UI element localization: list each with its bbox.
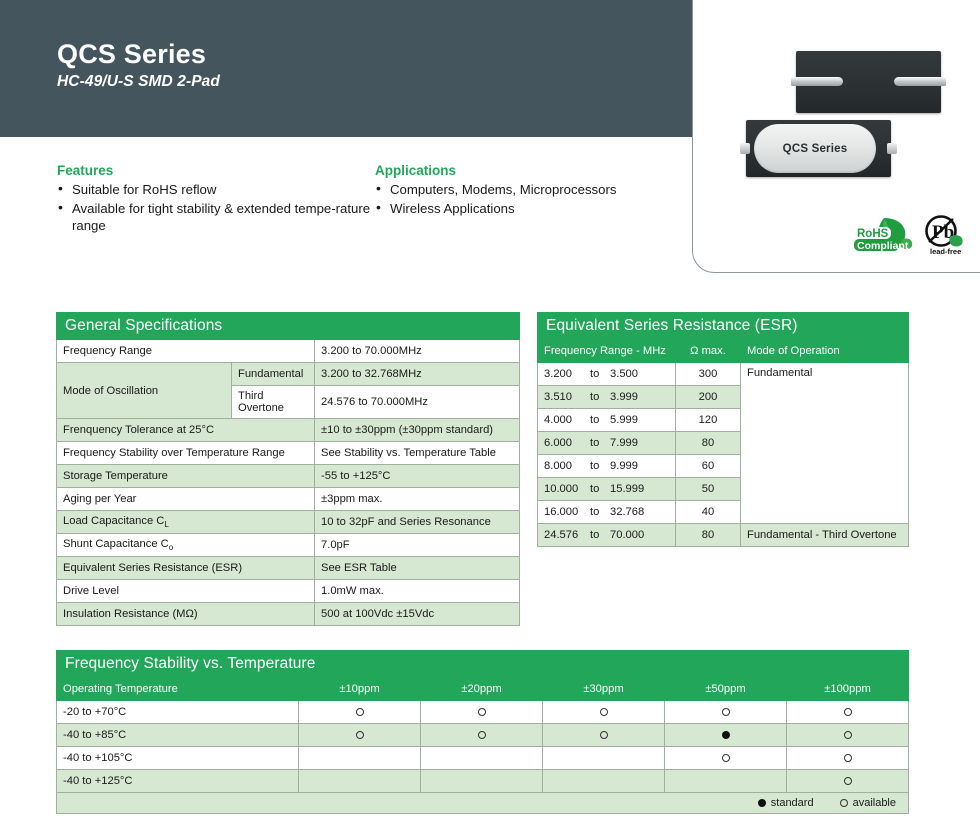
stability-mark-available	[299, 724, 421, 747]
esr-mode-of-operation: Fundamental	[741, 363, 909, 524]
esr-ohms-max: 40	[676, 501, 741, 524]
open-dot-icon	[840, 799, 848, 807]
stability-temperature-range: -40 to +105°C	[57, 747, 299, 770]
pb-lead-free-icon: Pb lead-free	[921, 214, 965, 256]
applications-heading: Applications	[375, 163, 675, 178]
table-row: 3.200to3.500300Fundamental	[538, 363, 909, 386]
lead-free-caption: lead-free	[930, 247, 961, 256]
package-label-oval: QCS Series	[754, 124, 876, 173]
esr-col-head-mode: Mode of Operation	[741, 340, 909, 363]
solder-pad-left-icon	[791, 77, 843, 86]
stability-mark-available	[787, 701, 909, 724]
legend-available: available	[840, 797, 896, 809]
stability-temperature-range: -40 to +85°C	[57, 724, 299, 747]
applications-list: Computers, Modems, Microprocessors Wirel…	[375, 181, 675, 217]
esr-ohms-max: 80	[676, 432, 741, 455]
stability-mark-empty	[543, 770, 665, 793]
table-row: Frequency Range3.200 to 70.000MHz	[57, 340, 520, 363]
spec-label: Drive Level	[57, 580, 315, 603]
spec-label: Frenquency Tolerance at 25°C	[57, 419, 315, 442]
stability-table: Frequency Stability vs. Temperature Oper…	[56, 650, 909, 814]
esr-frequency-range: 3.510to3.999	[538, 386, 676, 409]
table-row: Frenquency Tolerance at 25°C±10 to ±30pp…	[57, 419, 520, 442]
stability-mark-available	[299, 701, 421, 724]
esr-title: Equivalent Series Resistance (ESR)	[538, 313, 909, 340]
open-dot-icon	[844, 777, 852, 785]
table-row: -40 to +85°C	[57, 724, 909, 747]
stability-mark-available	[665, 701, 787, 724]
general-specifications-title: General Specifications	[57, 313, 520, 340]
page-subtitle: HC-49/U-S SMD 2-Pad	[57, 73, 220, 91]
stability-mark-empty	[421, 747, 543, 770]
spec-value: ±3ppm max.	[315, 488, 520, 511]
lead-tab-left-icon	[740, 143, 750, 154]
general-specifications-section: General Specifications Frequency Range3.…	[56, 312, 519, 626]
crystal-top-view-icon	[796, 51, 941, 113]
table-title-row: General Specifications	[57, 313, 520, 340]
stability-mark-available	[787, 770, 909, 793]
list-item: Wireless Applications	[375, 200, 675, 218]
product-image-panel: QCS Series RoHS Compliant Pb lead-free	[692, 0, 980, 273]
table-row: Equivalent Series Resistance (ESR)See ES…	[57, 557, 520, 580]
stability-temperature-range: -20 to +70°C	[57, 701, 299, 724]
esr-frequency-range: 8.000to9.999	[538, 455, 676, 478]
features-heading: Features	[57, 163, 375, 178]
open-dot-icon	[478, 708, 486, 716]
list-item: Available for tight stability & extended…	[57, 200, 375, 235]
esr-ohms-max: 60	[676, 455, 741, 478]
filled-dot-icon	[758, 799, 766, 807]
stability-section: Frequency Stability vs. Temperature Oper…	[56, 650, 908, 814]
esr-frequency-range: 10.000to15.999	[538, 478, 676, 501]
stability-col-head-temperature: Operating Temperature	[57, 678, 299, 701]
general-specifications-table: General Specifications Frequency Range3.…	[56, 312, 520, 626]
stability-mark-empty	[299, 770, 421, 793]
table-header-row: Operating Temperature ±10ppm ±20ppm ±30p…	[57, 678, 909, 701]
table-row: -20 to +70°C	[57, 701, 909, 724]
spec-label: Frequency Stability over Temperature Ran…	[57, 442, 315, 465]
spec-label: Equivalent Series Resistance (ESR)	[57, 557, 315, 580]
stability-mark-available	[543, 701, 665, 724]
spec-label: Frequency Range	[57, 340, 315, 363]
stability-col-head-20ppm: ±20ppm	[421, 678, 543, 701]
stability-col-head-10ppm: ±10ppm	[299, 678, 421, 701]
table-row: Load Capacitance CL10 to 32pF and Series…	[57, 511, 520, 534]
stability-legend: standardavailable	[57, 793, 909, 814]
spec-label: Aging per Year	[57, 488, 315, 511]
stability-mark-empty	[299, 747, 421, 770]
stability-mark-available	[787, 747, 909, 770]
table-row: Mode of OscillationFundamental3.200 to 3…	[57, 363, 520, 386]
esr-ohms-max: 50	[676, 478, 741, 501]
list-item: Computers, Modems, Microprocessors	[375, 181, 675, 199]
spec-sublabel: Third Overtone	[232, 386, 315, 419]
open-dot-icon	[478, 731, 486, 739]
stability-mark-empty	[665, 770, 787, 793]
table-title-row: Frequency Stability vs. Temperature	[57, 651, 909, 678]
table-row: -40 to +125°C	[57, 770, 909, 793]
stability-legend-row: standardavailable	[57, 793, 909, 814]
open-dot-icon	[844, 708, 852, 716]
stability-mark-standard	[665, 724, 787, 747]
stability-mark-empty	[543, 747, 665, 770]
spec-value: See Stability vs. Temperature Table	[315, 442, 520, 465]
table-row: Storage Temperature-55 to +125°C	[57, 465, 520, 488]
lead-tab-right-icon	[887, 143, 897, 154]
stability-mark-available	[421, 724, 543, 747]
features-list: Suitable for RoHS reflow Available for t…	[57, 181, 375, 235]
spec-value: ±10 to ±30ppm (±30ppm standard)	[315, 419, 520, 442]
compliance-logos: RoHS Compliant Pb lead-free	[853, 214, 965, 256]
spec-label: Load Capacitance CL	[57, 511, 315, 534]
esr-section: Equivalent Series Resistance (ESR) Frequ…	[537, 312, 908, 547]
spec-label: Mode of Oscillation	[57, 363, 232, 419]
esr-ohms-max: 200	[676, 386, 741, 409]
rohs-text: RoHS	[857, 228, 889, 240]
esr-col-head-frequency: Frequency Range - MHz	[538, 340, 676, 363]
spec-value: 24.576 to 70.000MHz	[315, 386, 520, 419]
spec-value: -55 to +125°C	[315, 465, 520, 488]
table-header-row: Frequency Range - MHz Ω max. Mode of Ope…	[538, 340, 909, 363]
legend-available-label: available	[853, 797, 896, 809]
crystal-bottom-view-icon: QCS Series	[746, 120, 891, 177]
compliant-text: Compliant	[857, 240, 909, 252]
list-item: Suitable for RoHS reflow	[57, 181, 375, 199]
esr-frequency-range: 16.000to32.768	[538, 501, 676, 524]
spec-value: 3.200 to 70.000MHz	[315, 340, 520, 363]
esr-frequency-range: 4.000to5.999	[538, 409, 676, 432]
legend-standard: standard	[758, 797, 814, 809]
esr-frequency-range: 24.576to70.000	[538, 524, 676, 547]
table-row: Frequency Stability over Temperature Ran…	[57, 442, 520, 465]
table-row: -40 to +105°C	[57, 747, 909, 770]
spec-sublabel: Fundamental	[232, 363, 315, 386]
esr-ohms-max: 80	[676, 524, 741, 547]
spec-label: Insulation Resistance (MΩ)	[57, 603, 315, 626]
table-row: 24.576to70.00080Fundamental - Third Over…	[538, 524, 909, 547]
esr-ohms-max: 300	[676, 363, 741, 386]
spec-value: 10 to 32pF and Series Resonance	[315, 511, 520, 534]
header-text-block: QCS Series HC-49/U-S SMD 2-Pad	[57, 40, 220, 91]
applications-column: Applications Computers, Modems, Micropro…	[375, 163, 675, 236]
esr-frequency-range: 3.200to3.500	[538, 363, 676, 386]
table-title-row: Equivalent Series Resistance (ESR)	[538, 313, 909, 340]
legend-standard-label: standard	[771, 797, 814, 809]
open-dot-icon	[356, 708, 364, 716]
table-row: Shunt Capacitance Co7.0pF	[57, 534, 520, 557]
open-dot-icon	[600, 731, 608, 739]
esr-col-head-ohms: Ω max.	[676, 340, 741, 363]
page-title: QCS Series	[57, 40, 220, 68]
open-dot-icon	[356, 731, 364, 739]
spec-value: 500 at 100Vdc ±15Vdc	[315, 603, 520, 626]
open-dot-icon	[722, 754, 730, 762]
package-label-text: QCS Series	[783, 143, 848, 155]
rohs-compliant-icon: RoHS Compliant	[853, 215, 915, 255]
open-dot-icon	[722, 708, 730, 716]
stability-mark-empty	[421, 770, 543, 793]
spec-value: 7.0pF	[315, 534, 520, 557]
spec-value: 1.0mW max.	[315, 580, 520, 603]
open-dot-icon	[844, 754, 852, 762]
stability-mark-available	[543, 724, 665, 747]
features-column: Features Suitable for RoHS reflow Availa…	[57, 163, 375, 236]
spec-label: Shunt Capacitance Co	[57, 534, 315, 557]
stability-col-head-100ppm: ±100ppm	[787, 678, 909, 701]
stability-title: Frequency Stability vs. Temperature	[57, 651, 909, 678]
open-dot-icon	[844, 731, 852, 739]
spec-label: Storage Temperature	[57, 465, 315, 488]
open-dot-icon	[600, 708, 608, 716]
esr-table: Equivalent Series Resistance (ESR) Frequ…	[537, 312, 909, 547]
solder-pad-right-icon	[894, 77, 946, 86]
stability-mark-available	[421, 701, 543, 724]
spec-value: 3.200 to 32.768MHz	[315, 363, 520, 386]
stability-mark-available	[665, 747, 787, 770]
stability-temperature-range: -40 to +125°C	[57, 770, 299, 793]
esr-mode-of-operation: Fundamental - Third Overtone	[741, 524, 909, 547]
features-applications-row: Features Suitable for RoHS reflow Availa…	[57, 163, 677, 236]
table-row: Drive Level1.0mW max.	[57, 580, 520, 603]
stability-col-head-50ppm: ±50ppm	[665, 678, 787, 701]
stability-mark-available	[787, 724, 909, 747]
esr-frequency-range: 6.000to7.999	[538, 432, 676, 455]
esr-ohms-max: 120	[676, 409, 741, 432]
spec-value: See ESR Table	[315, 557, 520, 580]
filled-dot-icon	[722, 731, 730, 739]
table-row: Aging per Year±3ppm max.	[57, 488, 520, 511]
stability-col-head-30ppm: ±30ppm	[543, 678, 665, 701]
table-row: Insulation Resistance (MΩ)500 at 100Vdc …	[57, 603, 520, 626]
